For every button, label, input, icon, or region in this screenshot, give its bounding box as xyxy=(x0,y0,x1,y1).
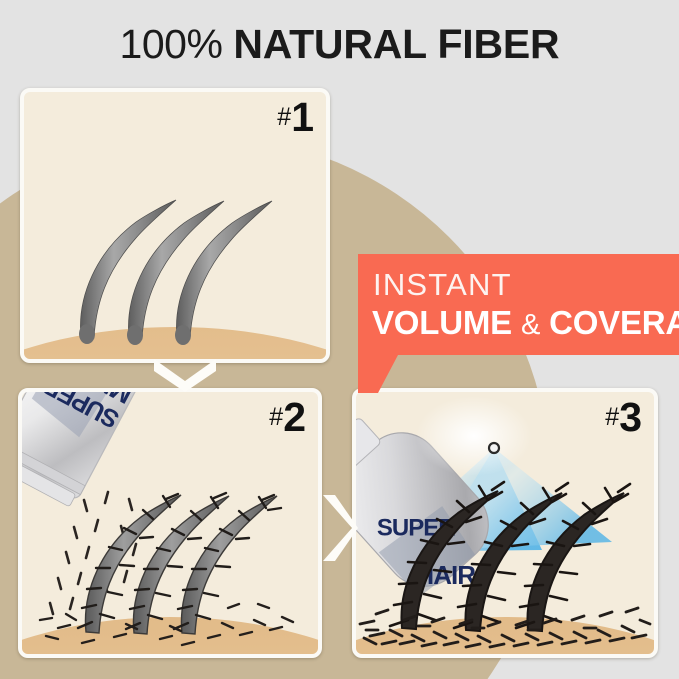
step-panel-3: SUPER HAIR xyxy=(352,388,658,658)
step-digit-2: 2 xyxy=(283,394,306,440)
chevron-down-icon xyxy=(148,354,222,392)
step-number-1: #1 xyxy=(277,97,314,138)
title-main: NATURAL FIBER xyxy=(233,21,559,67)
step-digit-1: 1 xyxy=(291,94,314,140)
banner-line-volume-coverage: VOLUME & COVERAGE xyxy=(372,304,679,344)
chevron-right-icon xyxy=(318,490,358,566)
title-percent: 100% xyxy=(120,21,223,67)
callout-banner: INSTANT VOLUME & COVERAGE xyxy=(358,254,679,355)
hash-symbol-2: # xyxy=(269,403,283,431)
banner-coverage: COVERAGE xyxy=(549,304,679,341)
step-panel-1: #1 xyxy=(20,88,330,363)
hash-symbol-1: # xyxy=(277,103,291,131)
step-digit-3: 3 xyxy=(619,394,642,440)
page-title: 100% NATURAL FIBER xyxy=(0,21,679,67)
step-number-3: #3 xyxy=(605,397,642,438)
hash-symbol-3: # xyxy=(605,403,619,431)
step-number-2: #2 xyxy=(269,397,306,438)
callout-banner-tail xyxy=(358,355,398,393)
step-panel-2: SUPER MILLION xyxy=(18,388,322,658)
banner-line-instant: INSTANT xyxy=(373,268,512,302)
banner-volume: VOLUME xyxy=(372,304,512,341)
banner-ampersand: & xyxy=(521,309,540,341)
infographic-canvas: 100% NATURAL FIBER xyxy=(0,0,679,679)
